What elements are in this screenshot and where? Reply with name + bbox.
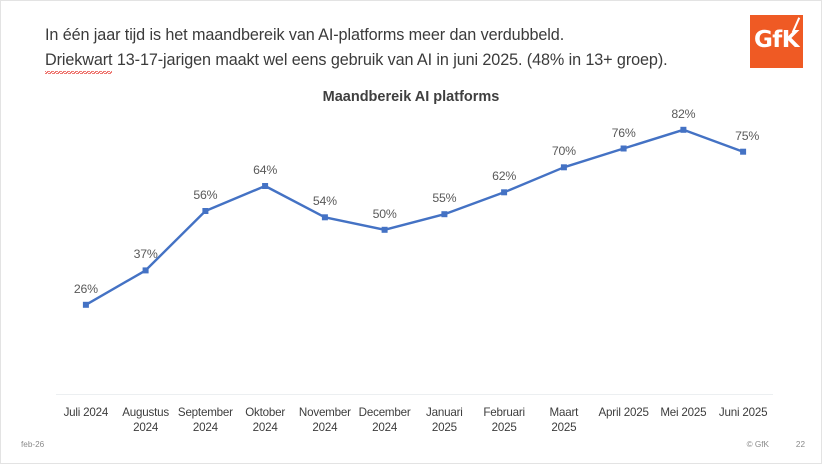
series-markers bbox=[83, 127, 746, 308]
category-label: November2024 bbox=[295, 405, 355, 435]
data-point-marker bbox=[202, 208, 208, 214]
data-point-marker bbox=[322, 214, 328, 220]
data-point-label: 54% bbox=[313, 194, 337, 208]
data-point-marker bbox=[740, 149, 746, 155]
headline-line-2-rest: 13-17-jarigen maakt wel eens gebruik van… bbox=[112, 51, 667, 69]
data-point-marker bbox=[83, 302, 89, 308]
data-point-label: 62% bbox=[492, 169, 516, 183]
data-point-label: 70% bbox=[552, 144, 576, 158]
category-label: Juni 2025 bbox=[713, 405, 773, 435]
footer-page-number: 22 bbox=[796, 440, 805, 449]
footer-copyright: © GfK bbox=[747, 440, 769, 449]
data-point-marker bbox=[561, 164, 567, 170]
category-label: Maart2025 bbox=[534, 405, 594, 435]
category-label: April 2025 bbox=[594, 405, 654, 435]
data-point-marker bbox=[382, 227, 388, 233]
footer-date: feb-26 bbox=[21, 440, 44, 449]
headline: In één jaar tijd is het maandbereik van … bbox=[45, 23, 745, 73]
category-label: Juli 2024 bbox=[56, 405, 116, 435]
category-label: Mei 2025 bbox=[654, 405, 714, 435]
data-point-label: 64% bbox=[253, 163, 277, 177]
chart-title: Maandbereik AI platforms bbox=[1, 89, 821, 105]
data-point-label: 37% bbox=[134, 247, 158, 261]
category-axis-line bbox=[56, 394, 773, 395]
headline-line-2: Driekwart 13-17-jarigen maakt wel eens g… bbox=[45, 48, 745, 73]
gfk-logo: GfK bbox=[750, 15, 803, 68]
category-label: December2024 bbox=[355, 405, 415, 435]
category-label: Januari2025 bbox=[415, 405, 475, 435]
data-point-marker bbox=[501, 189, 507, 195]
category-label: Augustus2024 bbox=[116, 405, 176, 435]
spellcheck-word: Driekwart bbox=[45, 48, 112, 73]
category-label: Oktober2024 bbox=[235, 405, 295, 435]
series-line bbox=[86, 130, 743, 305]
data-point-marker bbox=[262, 183, 268, 189]
data-point-label: 76% bbox=[612, 126, 636, 140]
slide: In één jaar tijd is het maandbereik van … bbox=[0, 0, 822, 464]
data-point-label: 82% bbox=[671, 107, 695, 121]
data-point-marker bbox=[143, 267, 149, 273]
headline-line-1: In één jaar tijd is het maandbereik van … bbox=[45, 23, 745, 48]
data-point-marker bbox=[441, 211, 447, 217]
category-label: September2024 bbox=[176, 405, 236, 435]
data-point-label: 50% bbox=[373, 207, 397, 221]
category-axis-labels: Juli 2024Augustus2024September2024Oktobe… bbox=[56, 405, 773, 435]
data-point-label: 26% bbox=[74, 282, 98, 296]
data-point-label: 75% bbox=[735, 129, 759, 143]
data-point-label: 56% bbox=[193, 188, 217, 202]
data-point-label: 55% bbox=[432, 191, 456, 205]
category-label: Februari2025 bbox=[474, 405, 534, 435]
data-point-marker bbox=[621, 146, 627, 152]
data-point-marker bbox=[680, 127, 686, 133]
